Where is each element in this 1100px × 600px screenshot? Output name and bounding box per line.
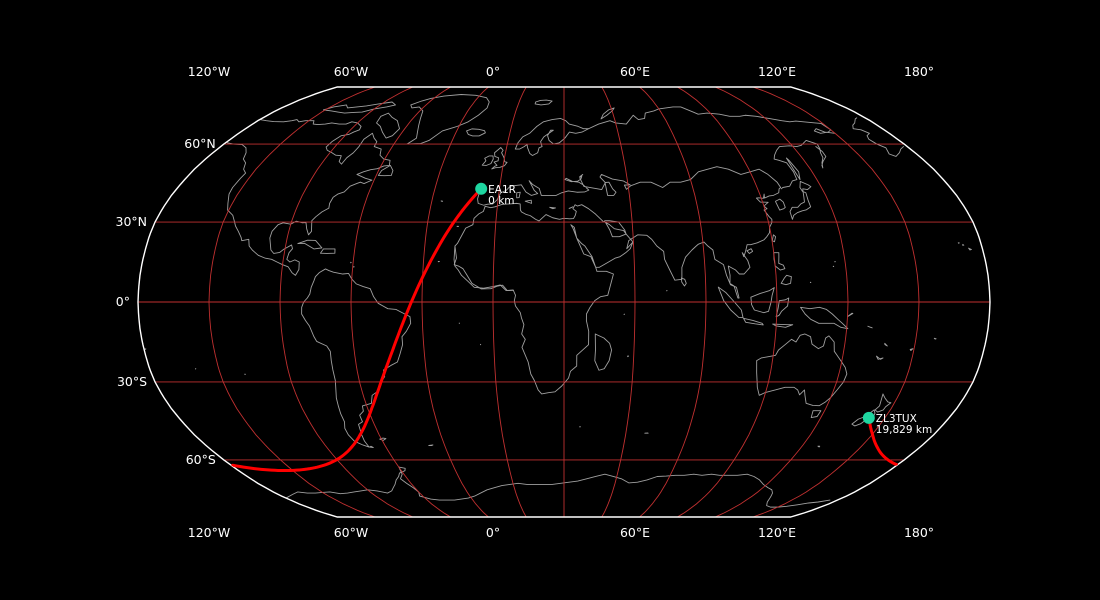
lon-tick-bottom-60°W: 60°W: [334, 525, 369, 540]
map-canvas: EA1R0 kmZL3TUX19,829 km 60°W60°W0°0°60°E…: [0, 0, 1100, 600]
lat-tick-60°S: 60°S: [186, 452, 216, 467]
station-distance-zl3tux: 19,829 km: [876, 424, 932, 436]
lon-tick-top-180°: 180°: [904, 64, 934, 79]
lat-tick-0°: 0°: [116, 294, 130, 309]
lon-tick-top-120°W: 120°W: [188, 64, 230, 79]
lon-tick-top-0°: 0°: [486, 64, 500, 79]
lon-tick-bottom-120°E: 120°E: [758, 525, 796, 540]
robinson-map: EA1R0 kmZL3TUX19,829 km 60°W60°W0°0°60°E…: [0, 0, 1100, 600]
station-distance-ea1r: 0 km: [488, 195, 514, 207]
lat-tick-30°N: 30°N: [116, 214, 148, 229]
map-figure: Robinson Projection IN73 to RE66HO (86°T…: [0, 0, 1100, 600]
lon-tick-bottom-0°: 0°: [486, 525, 500, 540]
lat-tick-60°N: 60°N: [184, 136, 216, 151]
lon-tick-top-60°W: 60°W: [334, 64, 369, 79]
lon-tick-top-60°E: 60°E: [620, 64, 650, 79]
lon-tick-top-120°E: 120°E: [758, 64, 796, 79]
lon-tick-bottom-120°W: 120°W: [188, 525, 230, 540]
station-marker-ea1r[interactable]: [475, 183, 487, 195]
lon-tick-bottom-60°E: 60°E: [620, 525, 650, 540]
lon-tick-bottom-180°: 180°: [904, 525, 934, 540]
map-background: [0, 0, 1100, 600]
lat-tick-30°S: 30°S: [117, 374, 147, 389]
station-marker-zl3tux[interactable]: [863, 412, 875, 424]
